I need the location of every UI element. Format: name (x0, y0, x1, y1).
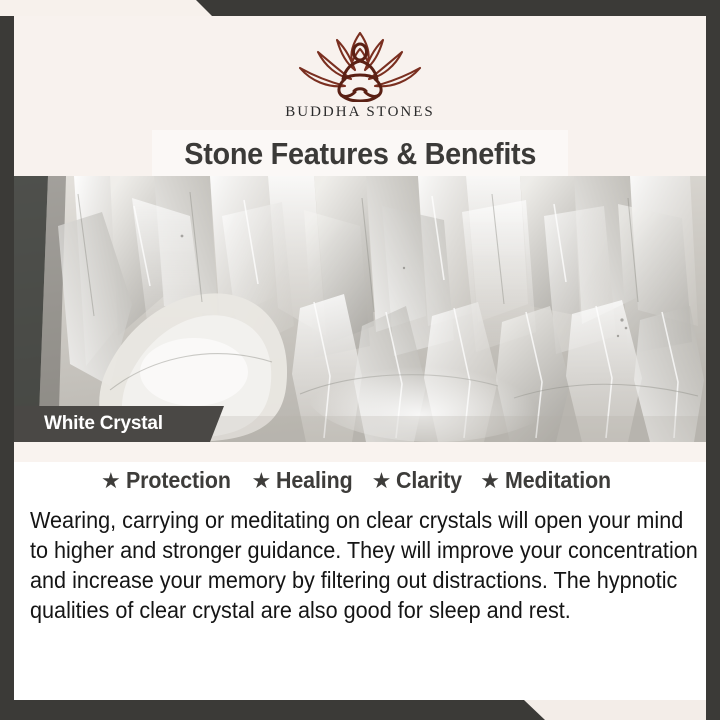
brand-name: BUDDHA STONES (285, 104, 435, 121)
page-title: Stone Features & Benefits (184, 136, 536, 172)
benefit-label: Healing (276, 467, 353, 494)
frame-corner-top-left (0, 0, 212, 16)
frame-bar-left (0, 16, 14, 720)
benefit-item-protection: ★ Protection (101, 467, 238, 494)
frame-bar-right (706, 0, 720, 720)
star-icon: ★ (372, 470, 392, 492)
stone-photo (14, 176, 706, 442)
page-title-band: Stone Features & Benefits (152, 130, 568, 178)
benefit-item-healing: ★ Healing (252, 467, 359, 494)
crystal-cluster-image (14, 176, 706, 442)
star-icon: ★ (252, 470, 272, 492)
stone-name: White Crystal (14, 413, 163, 435)
benefit-item-meditation: ★ Meditation (480, 467, 619, 494)
stone-benefits-card: BUDDHA STONES Stone Features & Benefits (0, 0, 720, 720)
star-icon: ★ (480, 470, 500, 492)
benefit-label: Clarity (396, 467, 462, 494)
benefits-list: ★ Protection ★ Healing ★ Clarity ★ Medit… (14, 462, 706, 494)
cream-divider-strip (14, 442, 706, 462)
stone-name-tag: White Crystal (14, 406, 224, 442)
stone-description: Wearing, carrying or meditating on clear… (30, 506, 699, 626)
benefit-label: Meditation (505, 467, 611, 494)
benefit-label: Protection (126, 467, 231, 494)
lotus-meditation-icon (285, 26, 435, 102)
card-content: ★ Protection ★ Healing ★ Clarity ★ Medit… (14, 462, 706, 700)
card-header: BUDDHA STONES Stone Features & Benefits (14, 16, 706, 176)
star-icon: ★ (101, 470, 121, 492)
brand-logo: BUDDHA STONES (14, 26, 706, 121)
benefit-item-clarity: ★ Clarity (372, 467, 468, 494)
